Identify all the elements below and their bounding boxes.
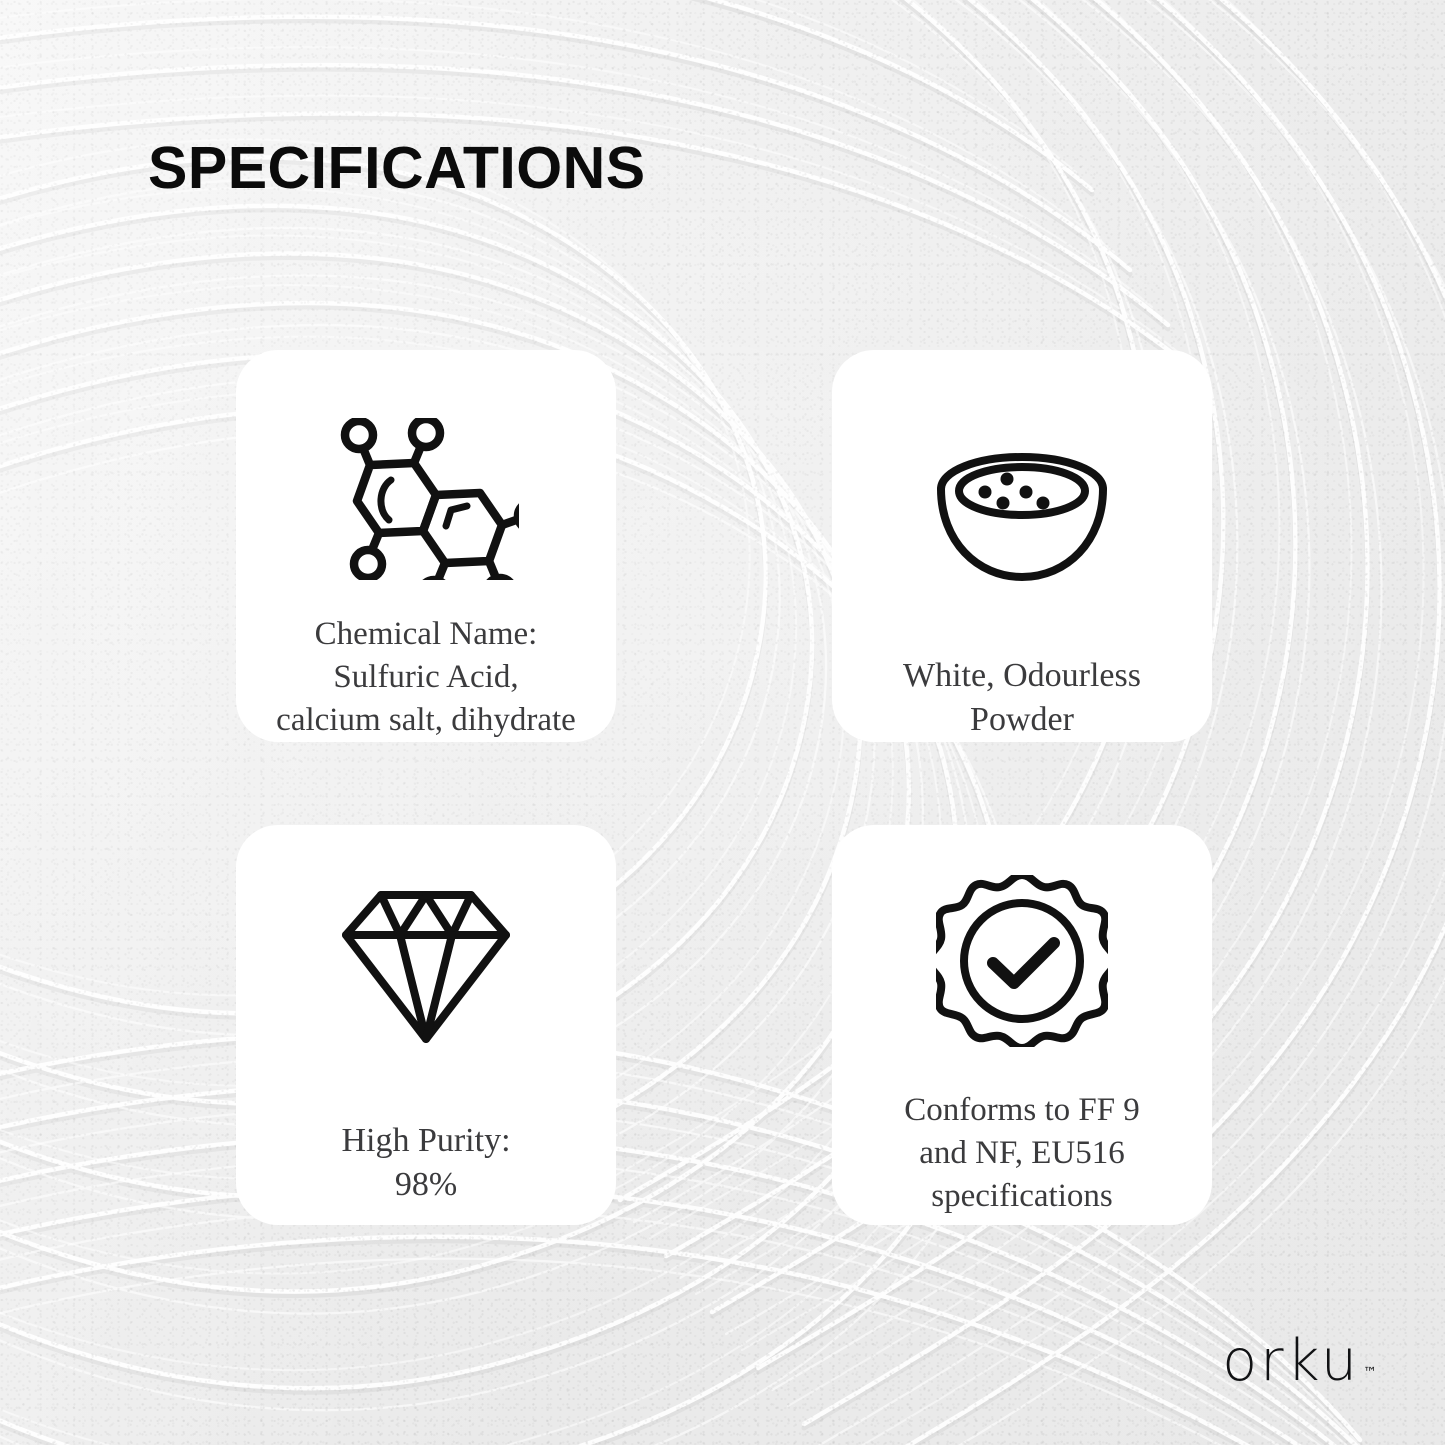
diamond-icon (338, 887, 514, 1047)
powder-grains (979, 472, 1050, 509)
specifications-poster: SPECIFICATIONS (0, 0, 1445, 1445)
card-icon-wrapper (236, 825, 616, 1067)
page-title: SPECIFICATIONS (148, 139, 646, 198)
spec-card-appearance: White, Odourless Powder (832, 350, 1212, 742)
spec-card-label: High Purity: 98% (327, 1119, 524, 1207)
card-icon-wrapper (236, 350, 616, 595)
spec-card-compliance: Conforms to FF 9 and NF, EU516 specifica… (832, 825, 1212, 1225)
spec-card-label: Conforms to FF 9 and NF, EU516 specifica… (890, 1089, 1154, 1218)
spec-card-chemical-name: Chemical Name: Sulfuric Acid, calcium sa… (236, 350, 616, 742)
powder-bowl-icon (933, 437, 1111, 583)
spec-card-label: White, Odourless Powder (889, 654, 1155, 742)
trademark-symbol: ™ (1363, 1365, 1377, 1381)
spec-card-purity: High Purity: 98% (236, 825, 616, 1225)
card-icon-wrapper (832, 825, 1212, 1061)
brand-wordmark: orku (1222, 1336, 1360, 1387)
card-icon-wrapper (832, 350, 1212, 606)
molecule-icon (333, 418, 519, 580)
certification-badge-icon (936, 875, 1108, 1047)
spec-card-label: Chemical Name: Sulfuric Acid, calcium sa… (262, 613, 590, 742)
brand-logo: orku ™ (1222, 1336, 1377, 1387)
